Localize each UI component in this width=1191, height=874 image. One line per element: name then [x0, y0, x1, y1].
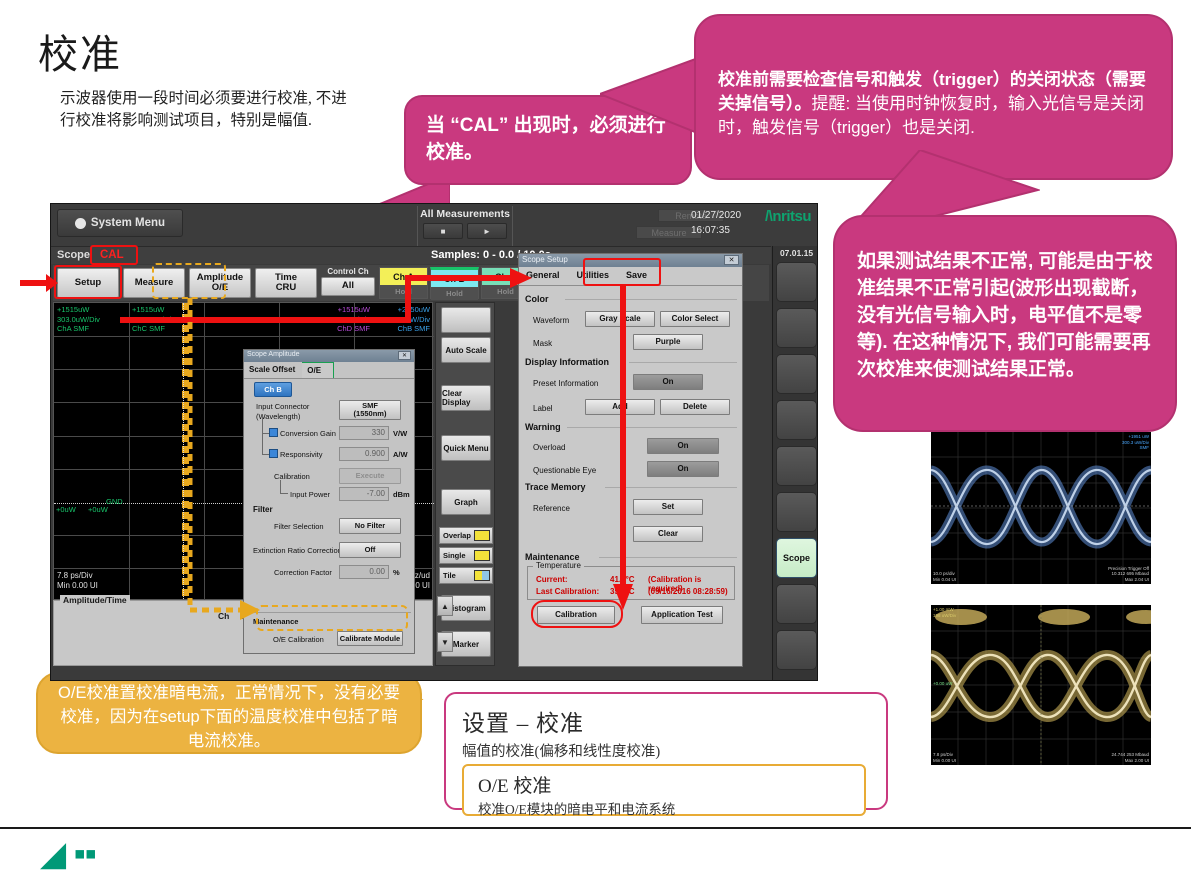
system-menu-button[interactable]: System Menu	[57, 209, 183, 237]
temp-current-label: Current:	[536, 575, 568, 584]
page-title: 校准	[38, 22, 122, 80]
callout-cal-appears: 当 “CAL” 出现时，必须进行校准。	[404, 95, 692, 185]
clear-display-button[interactable]: Clear Display	[441, 385, 491, 411]
section-warning: Warning	[525, 422, 561, 432]
conversion-gain-unit: V/W	[393, 429, 407, 438]
orange-connector-oe-calibration	[128, 298, 388, 628]
gold-eye-bottomleft-readout: 7.8 ps/Div Min 0.00 UI	[933, 752, 956, 763]
measurements-stop-button[interactable]: ■	[423, 223, 463, 239]
panel-settings-title: 设置 – 校准	[462, 704, 870, 738]
setup-button[interactable]: Setup	[57, 268, 119, 298]
reference-label: Reference	[533, 504, 570, 513]
hardkey-2[interactable]	[776, 308, 817, 348]
scope-setup-titlebar[interactable]: Scope Setup ✕	[519, 254, 742, 267]
blue-eye-topright-readout: +1951 uW 300.3 uW/Div SMF	[1122, 434, 1149, 451]
graph-button[interactable]: Graph	[441, 489, 491, 515]
blue-eye-bottomright-readout: Precision Trigger Off 10.312 695 Mbaud M…	[1108, 566, 1149, 583]
panel-oe-calibration: O/E 校准 校准O/E模块的暗电平和电流系统	[462, 764, 866, 816]
anritsu-logo: /\nritsu	[765, 208, 811, 225]
all-measurements-label: All Measurements	[418, 206, 512, 220]
gold-eye-bottomright-readout: 24.744 253 Mbaud Max 2.00 UI	[1111, 752, 1149, 763]
chevron-down-icon	[75, 218, 86, 229]
gnd-label-b: +0uW	[88, 505, 108, 515]
hardkey-6[interactable]	[776, 492, 817, 532]
footer-divider	[0, 827, 1191, 829]
label-delete-button[interactable]: Delete	[660, 399, 730, 415]
blue-eye-diagram: +1951 uW 300.3 uW/Div SMF 10.0 ps/div Mi…	[931, 432, 1151, 584]
firmware-version: 07.01.15	[773, 248, 818, 258]
hardkey-1[interactable]	[776, 262, 817, 302]
single-eye-icon	[474, 550, 490, 561]
scope-tab-label[interactable]: Scope	[57, 249, 90, 261]
panel-oe-subtitle: 校准O/E模块的暗电平和电流系统	[478, 798, 850, 818]
overload-label: Overload	[533, 443, 565, 452]
overlap-eye-icon	[474, 530, 490, 541]
view-tile-button[interactable]: Tile	[439, 567, 493, 584]
red-arrow-setup-icon	[20, 272, 58, 294]
callout-abnormal-result: 如果测试结果不正常, 可能是由于校准结果不正常引起(波形出现截断，没有光信号输入…	[833, 215, 1177, 432]
measurements-run-button[interactable]: ►	[467, 223, 507, 239]
hardkey-scope[interactable]: Scope	[776, 538, 817, 578]
questionable-eye-toggle[interactable]: On	[647, 461, 719, 477]
label-label: Label	[533, 404, 553, 413]
quick-menu-button[interactable]: Quick Menu	[441, 435, 491, 461]
scroll-up-button[interactable]: ▲	[437, 596, 453, 616]
panel-settings-subtitle: 幅值的校准(偏移和线性度校准)	[462, 740, 870, 761]
callout-abnormal-text: 如果测试结果不正常, 可能是由于校准结果不正常引起(波形出现截断，没有光信号输入…	[857, 251, 1153, 380]
calibrate-module-button[interactable]: Calibrate Module	[337, 631, 403, 646]
footer-logo: ◢ ▪▪	[40, 834, 96, 874]
date-text: 01/27/2020	[691, 208, 741, 223]
callout-trigger-check: 校准前需要检查信号和触发（trigger）的关闭状态（需要关掉信号）。提醒: 当…	[694, 14, 1173, 180]
view-single-button[interactable]: Single	[439, 547, 493, 564]
gold-eye-diagram: +1.00 mW 198 uW/Div +0.00 uW 7.8 ps/Div …	[931, 605, 1151, 765]
hardkey-9[interactable]	[776, 630, 817, 670]
responsivity-unit: A/W	[393, 450, 408, 459]
hardkey-5[interactable]	[776, 446, 817, 486]
timebase-readout: 7.8 ps/Div Min 0.00 UI	[57, 571, 98, 591]
hardkey-8[interactable]	[776, 584, 817, 624]
panel-oe-title: O/E 校准	[478, 771, 850, 798]
callout-oe-text: O/E校准置校准暗电流，正常情况下，没有必要校准，因为在setup下面的温度校准…	[58, 684, 400, 750]
close-icon[interactable]: ✕	[398, 351, 411, 360]
callout-cal-text: 当 “CAL” 出现时，必须进行校准。	[426, 115, 666, 163]
close-icon[interactable]: ✕	[724, 255, 739, 265]
tab-utilities[interactable]: Utilities	[570, 267, 620, 285]
hardkey-4[interactable]	[776, 400, 817, 440]
tile-grid-icon	[474, 570, 490, 581]
waveform-label: Waveform	[533, 316, 569, 325]
system-menu-label: System Menu	[91, 217, 165, 229]
scroll-down-button[interactable]: ▼	[437, 632, 453, 652]
red-connector-utilities-calibration	[575, 284, 655, 614]
mask-label: Mask	[533, 339, 552, 348]
hardkey-3[interactable]	[776, 354, 817, 394]
color-select-button[interactable]: Color Select	[660, 311, 730, 327]
view-overlap-button[interactable]: Overlap	[439, 527, 493, 544]
oe-calibration-label: O/E Calibration	[273, 635, 324, 644]
blue-eye-bottomleft-readout: 10.0 ps/div Min 0.04 UI	[933, 571, 956, 582]
input-power-unit: dBm	[393, 490, 410, 499]
auto-scale-button[interactable]: Auto Scale	[441, 337, 491, 363]
temp-last-note: (09/16/2016 08:28:59)	[648, 587, 728, 596]
channel-a-readout: +1515uW 303.0uW/Div ChA SMF	[57, 305, 100, 334]
amplitude-time-legend: Amplitude/Time	[60, 595, 130, 605]
all-measurements-group: All Measurements ■ ►	[417, 206, 513, 246]
page-subtitle: 示波器使用一段时间必须要进行校准, 不进行校准将影响测试项目，特别是幅值.	[60, 88, 360, 133]
time-text: 16:07:35	[691, 223, 741, 238]
correction-factor-unit: %	[393, 568, 400, 577]
datetime-display: 01/27/2020 16:07:35	[691, 208, 741, 238]
tab-save[interactable]: Save	[619, 267, 657, 285]
overload-toggle[interactable]: On	[647, 438, 719, 454]
gold-eye-mid-readout: +0.00 uW	[933, 681, 952, 687]
gold-eye-topleft-readout: +1.00 mW 198 uW/Div	[933, 607, 956, 618]
gnd-label-text: GND	[106, 497, 123, 507]
callout-oe-calibration: O/E校准置校准暗电流，正常情况下，没有必要校准，因为在setup下面的温度校准…	[36, 672, 422, 754]
hardkey-strip: 07.01.15 Scope	[772, 246, 818, 681]
scope-top-bar: System Menu All Measurements ■ ► Remote …	[51, 204, 818, 246]
gnd-label-a: +0uW	[56, 505, 76, 515]
